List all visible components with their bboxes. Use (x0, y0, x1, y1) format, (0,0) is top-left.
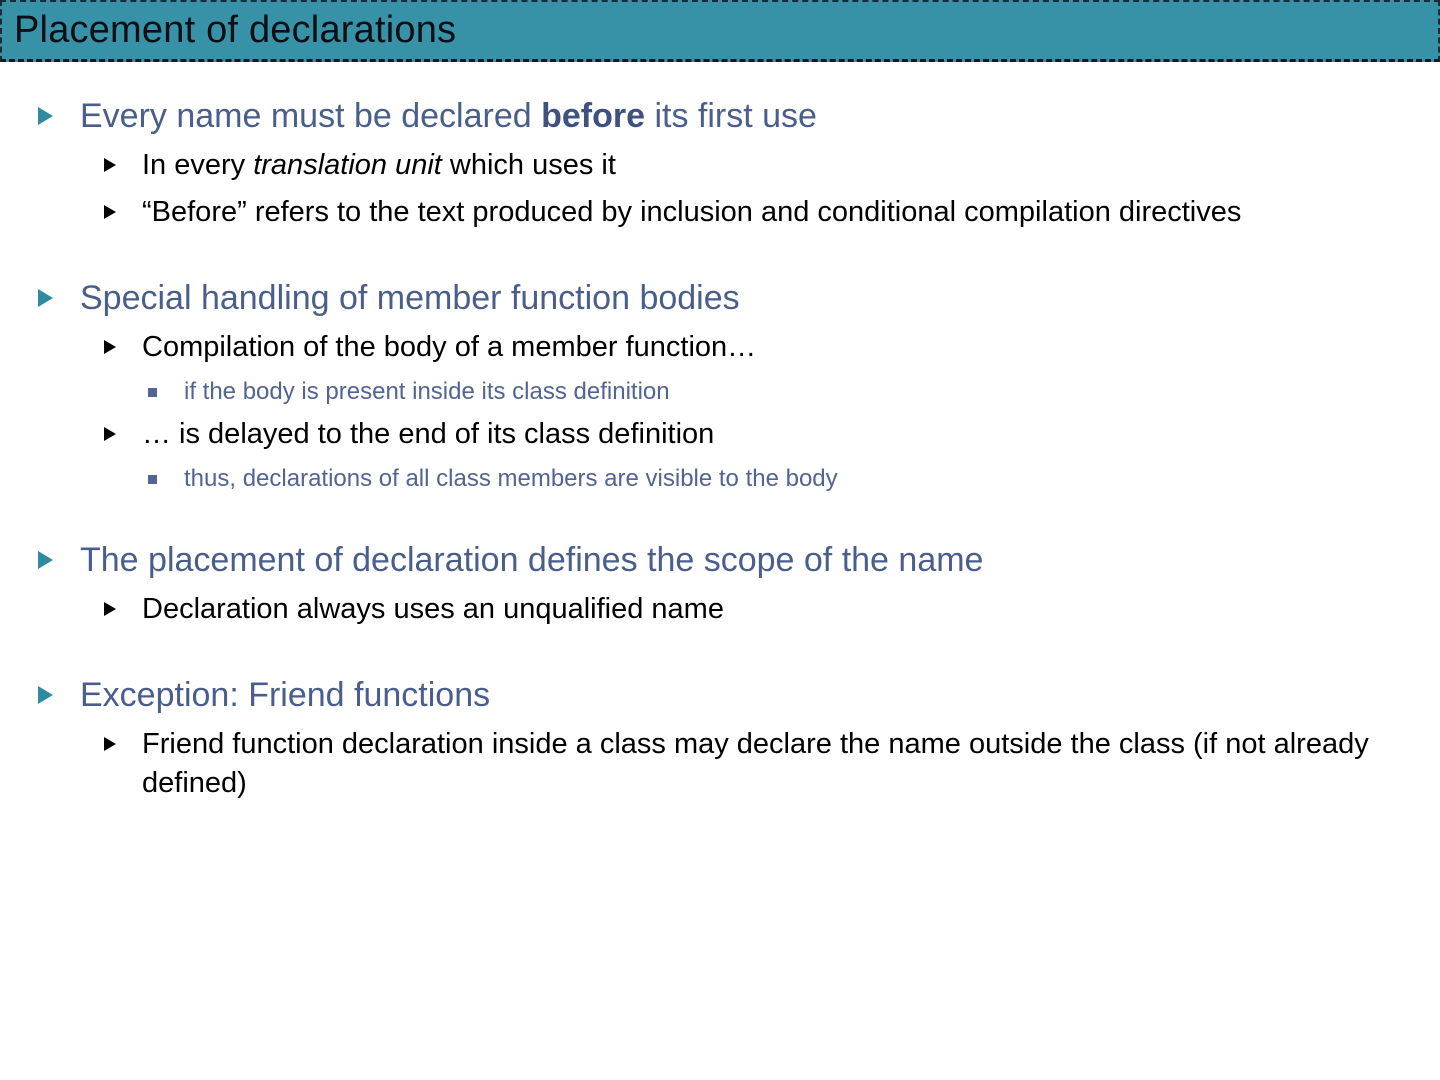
triangle-bullet-icon (38, 289, 53, 307)
bullet-block: The placement of declaration defines the… (24, 538, 1416, 629)
bullet-level2: Friend function declaration inside a cla… (24, 725, 1416, 803)
slide-title-bar: Placement of declarations (0, 0, 1440, 62)
bullet-level1-text: Special handling of member function bodi… (80, 279, 740, 317)
bullet-level2-text: … is delayed to the end of its class def… (142, 418, 714, 450)
bullet-level1-text: Exception: Friend functions (80, 676, 490, 714)
bullet-level1-text-post: its first use (645, 97, 817, 135)
bullet-level2-text: “Before” refers to the text produced by … (142, 196, 1241, 228)
bullet-block: Special handling of member function bodi… (24, 276, 1416, 494)
triangle-bullet-icon (104, 602, 116, 616)
bullet-level3: if the body is present inside its class … (24, 376, 1416, 407)
triangle-bullet-icon (104, 205, 116, 219)
slide: Placement of declarations Every name mus… (0, 0, 1440, 1080)
bullet-level1-text-bold: before (541, 97, 645, 135)
bullet-level1-text: The placement of declaration defines the… (80, 541, 983, 579)
bullet-level2-text: Friend function declaration inside a cla… (142, 728, 1369, 799)
bullet-level2-text-pre: In every (142, 149, 253, 181)
triangle-bullet-icon (38, 107, 53, 125)
triangle-bullet-icon (104, 737, 116, 751)
bullet-level2-text-post: which uses it (442, 149, 616, 181)
bullet-level2: “Before” refers to the text produced by … (24, 193, 1416, 232)
triangle-bullet-icon (104, 427, 116, 441)
page-title: Placement of declarations (14, 11, 456, 49)
triangle-bullet-icon (38, 686, 53, 704)
bullet-level2-text: Declaration always uses an unqualified n… (142, 593, 724, 625)
bullet-level3-text: if the body is present inside its class … (184, 378, 670, 405)
triangle-bullet-icon (104, 158, 116, 172)
bullet-level2: Compilation of the body of a member func… (24, 328, 1416, 367)
triangle-bullet-icon (38, 551, 53, 569)
square-bullet-icon (148, 475, 157, 484)
bullet-level1: Every name must be declared before its f… (24, 94, 1416, 138)
bullet-level1: Special handling of member function bodi… (24, 276, 1416, 320)
bullet-level2: … is delayed to the end of its class def… (24, 415, 1416, 454)
bullet-level1-text-pre: Every name must be declared (80, 97, 541, 135)
bullet-block: Exception: Friend functions Friend funct… (24, 673, 1416, 803)
bullet-level2: Declaration always uses an unqualified n… (24, 590, 1416, 629)
bullet-level3: thus, declarations of all class members … (24, 463, 1416, 494)
bullet-level1: The placement of declaration defines the… (24, 538, 1416, 582)
square-bullet-icon (148, 388, 157, 397)
bullet-level3-text: thus, declarations of all class members … (184, 465, 838, 492)
triangle-bullet-icon (104, 340, 116, 354)
bullet-level2-text-em: translation unit (253, 149, 442, 181)
slide-body: Every name must be declared before its f… (0, 62, 1440, 1080)
bullet-level2: In every translation unit which uses it (24, 146, 1416, 185)
bullet-level1: Exception: Friend functions (24, 673, 1416, 717)
bullet-block: Every name must be declared before its f… (24, 94, 1416, 232)
bullet-level2-text: Compilation of the body of a member func… (142, 331, 756, 363)
